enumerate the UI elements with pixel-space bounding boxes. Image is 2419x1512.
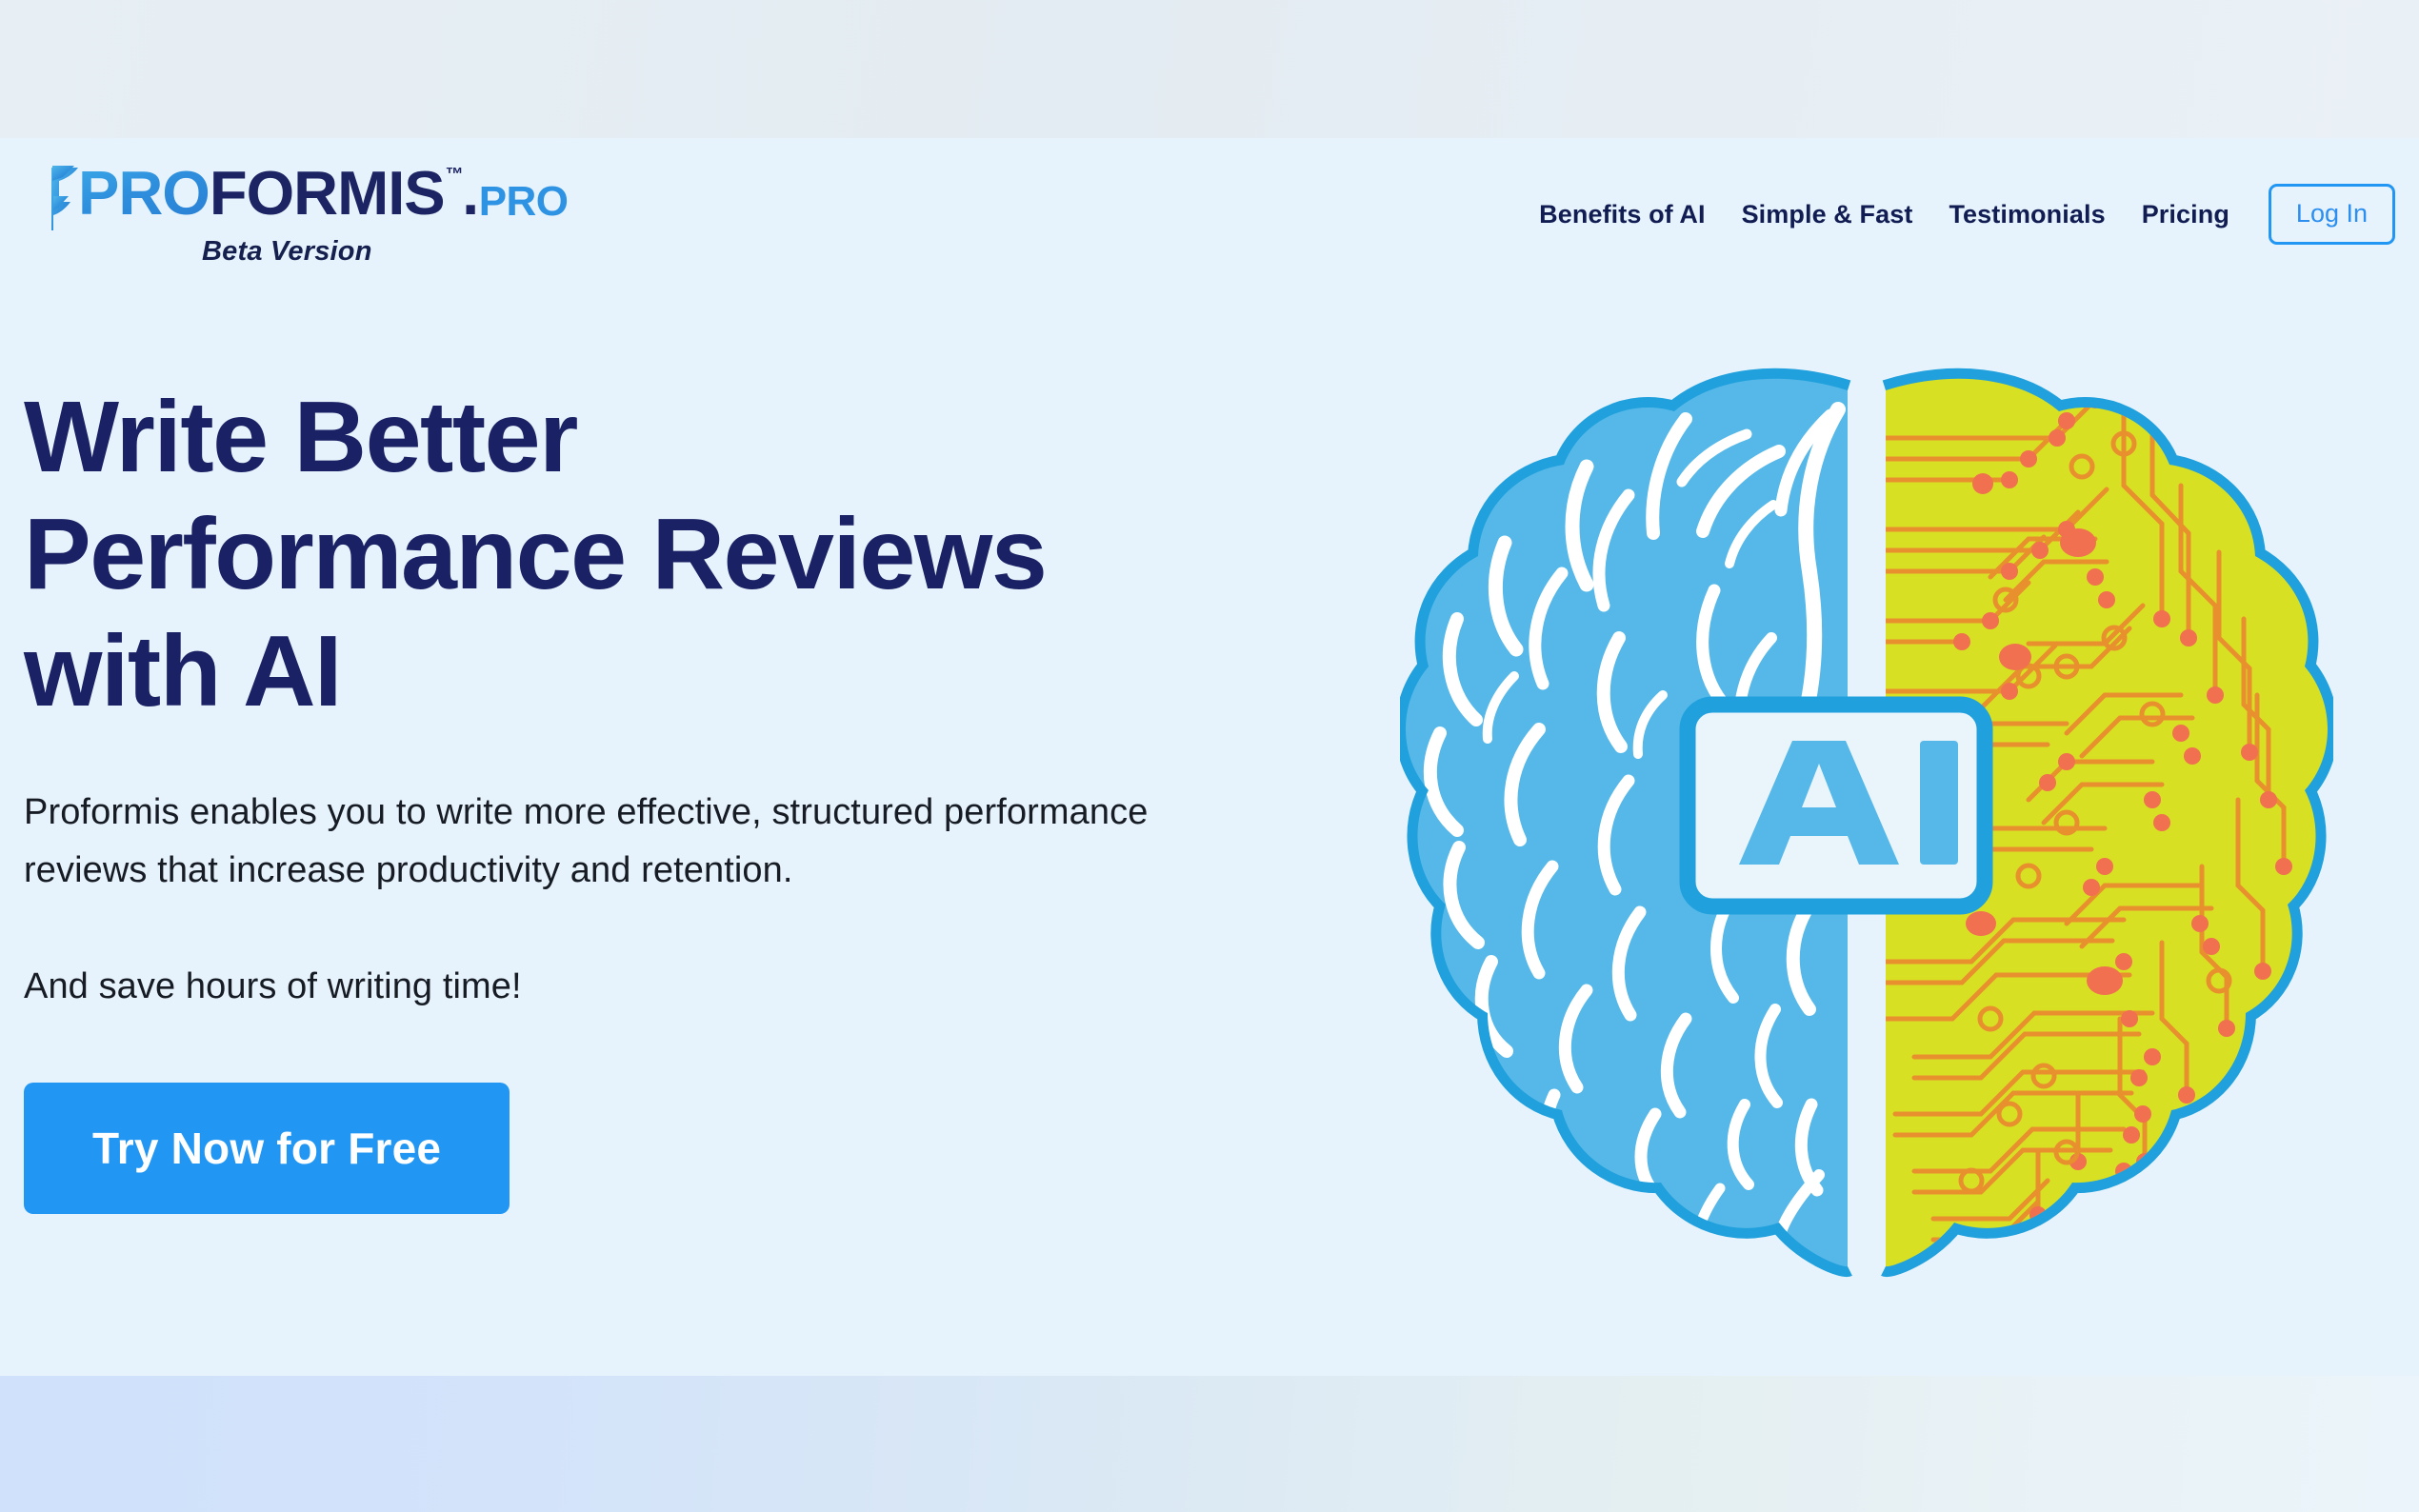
beta-version-label: Beta Version xyxy=(202,236,569,268)
main-navigation: Benefits of AI Simple & Fast Testimonial… xyxy=(1521,184,2395,245)
try-now-for-free-button[interactable]: Try Now for Free xyxy=(24,1083,510,1214)
ai-badge xyxy=(1688,705,1985,906)
logo-text-formis: FORMIS xyxy=(210,162,445,224)
landing-page: PRO FORMIS ™ . PRO Beta Version Benefits… xyxy=(0,0,2419,1512)
logo-swoosh-icon xyxy=(50,164,82,232)
nav-item-pricing[interactable]: Pricing xyxy=(2124,200,2248,229)
hero-headline: Write Better Performance Reviews with AI xyxy=(24,379,1110,730)
logo-text-pro: PRO xyxy=(78,162,210,224)
nav-item-testimonials[interactable]: Testimonials xyxy=(1930,200,2123,229)
logo-area[interactable]: PRO FORMIS ™ . PRO Beta Version xyxy=(50,162,569,268)
nav-item-simple-and-fast[interactable]: Simple & Fast xyxy=(1724,200,1931,229)
hero-paragraph: Proformis enables you to write more effe… xyxy=(24,784,1233,901)
top-background-band xyxy=(0,0,2419,138)
site-header: PRO FORMIS ™ . PRO Beta Version Benefits… xyxy=(0,138,2419,295)
logo-text-dot: . xyxy=(462,162,479,224)
hero-paragraph-secondary: And save hours of writing time! xyxy=(24,958,1281,1016)
logo-trademark-icon: ™ xyxy=(446,166,464,184)
hero-content: Write Better Performance Reviews with AI… xyxy=(24,379,1281,1214)
brand-logo[interactable]: PRO FORMIS ™ . PRO xyxy=(50,162,569,230)
logo-text-suffix: PRO xyxy=(479,181,569,223)
next-section-background-band xyxy=(0,1376,2419,1512)
login-button[interactable]: Log In xyxy=(2269,184,2395,245)
nav-item-benefits-of-ai[interactable]: Benefits of AI xyxy=(1521,200,1723,229)
ai-brain-illustration xyxy=(1400,352,2333,1343)
